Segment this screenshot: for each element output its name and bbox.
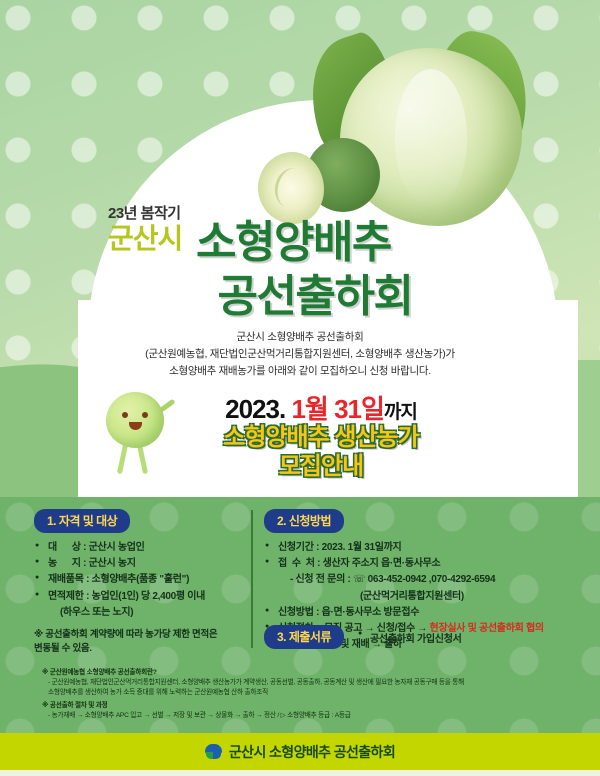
intro-line-2: (군산원예농협, 재단법인군산먹거리통합지원센터, 소형양배추 생산농가)가 [0, 346, 600, 363]
list-item: 신청기간 : 2023. 1월 31일까지 [264, 540, 582, 556]
gunsan-city-logo-icon [205, 743, 222, 760]
section-3-documents: 3. 제출서류 공선출하회 가입신청서 [264, 625, 462, 649]
section-1-badge: 1. 자격 및 대상 [34, 509, 130, 533]
kicker-text: 23년 봄작기 [108, 206, 182, 222]
section-1-qualification: 1. 자격 및 대상 대 상 : 군산시 농업인 농 지 : 군산시 농지 재배… [34, 509, 248, 656]
deadline-month-text: 1월 [291, 394, 327, 424]
footer-organization-name: 군산시 소형양배추 공선출하회 [229, 742, 395, 762]
deadline-line: 신청기간 : 2023. 1월 31일까지 2023. 1월 31일까지 [0, 389, 600, 426]
deadline-suffix-text: 까지 [384, 402, 417, 423]
intro-line-1: 군산시 소형양배추 공선출하회 [0, 329, 600, 346]
footnote-2-heading: ※ 공선출하 절차 및 과정 [42, 701, 572, 711]
subtitle-line-1: 소형양배추 생산농가 [42, 423, 600, 452]
logo-leaf-blue [213, 752, 221, 759]
footnotes-block: ※ 군산원예농협 소형양배추 공선출하회란? - 군산원예농협, 재단법인군산먹… [42, 665, 572, 721]
headline-left-column: 23년 봄작기 군산시 [108, 206, 182, 253]
list-item-phone: - 신청 전 문의 : ☏ 063-452-0942 ,070-4292-659… [264, 572, 582, 588]
list-item: 재배품목 : 소형양배추(품종 "훌런") [34, 572, 248, 588]
subtitle-block: 소형양배추 생산농가 모집안내 [0, 423, 600, 482]
page-title-line2: 공선출하회 [0, 260, 600, 324]
section-3-badge: 3. 제출서류 [264, 625, 344, 649]
deadline-day-text: 31일 [334, 394, 384, 424]
list-item: 농 지 : 군산시 농지 [34, 556, 248, 572]
list-item: 접 수 처 : 생산자 주소지 읍·면·동사무소 [264, 556, 582, 572]
information-panel: 1. 자격 및 대상 대 상 : 군산시 농업인 농 지 : 군산시 농지 재배… [0, 497, 600, 733]
intro-paragraph: 군산시 소형양배추 공선출하회 (군산원예농협, 재단법인군산먹거리통합지원센터… [0, 329, 600, 380]
section-1-list: 대 상 : 군산시 농업인 농 지 : 군산시 농지 재배품목 : 소형양배추(… [34, 540, 248, 621]
intro-line-3: 소형양배추 재배농가를 아래와 같이 모집하오니 신청 바랍니다. [0, 363, 600, 380]
subtitle-line-2: 모집안내 [42, 452, 600, 481]
footnote-1-heading: ※ 군산원예농협 소형양배추 공선출하회란? [42, 668, 572, 678]
section-3-text: 공선출하회 가입신청서 [358, 630, 461, 645]
footnote-2-body: - 농가재배 → 소형양배추 APC 입고 → 선별 → 저장 및 보관 → 상… [42, 711, 572, 721]
list-item-center-name: (군산먹거리통합지원센터) [264, 589, 582, 605]
footer-bar: 군산시 소형양배추 공선출하회 [0, 733, 600, 770]
section-2-badge: 2. 신청방법 [264, 509, 344, 533]
list-item: 신청방법 : 읍·면·동사무소 방문접수 [264, 605, 582, 621]
poster-root: 23년 봄작기 군산시 소형양배추 공선출하회 군산시 소형양배추 공선출하회 … [0, 0, 600, 776]
list-item-continuation: (하우스 또는 노지) [34, 605, 248, 621]
deadline-prefix-text: 2023. [225, 394, 285, 424]
list-item: 대 상 : 군산시 농업인 [34, 540, 248, 556]
footer-bottom-strip [0, 770, 600, 776]
section-1-note: ※ 공선출하회 계약량에 따라 농가당 제한 면적은 변동될 수 있음. [34, 628, 248, 657]
list-item: 면적제한 : 농업인(1인) 당 2,400평 이내 [34, 589, 248, 605]
city-name: 군산시 [108, 224, 182, 253]
column-divider [251, 510, 253, 648]
footnote-1-body: - 군산원예농협, 재단법인군산먹거리통합지원센터, 소형양배추 생산농가가 계… [42, 678, 572, 698]
